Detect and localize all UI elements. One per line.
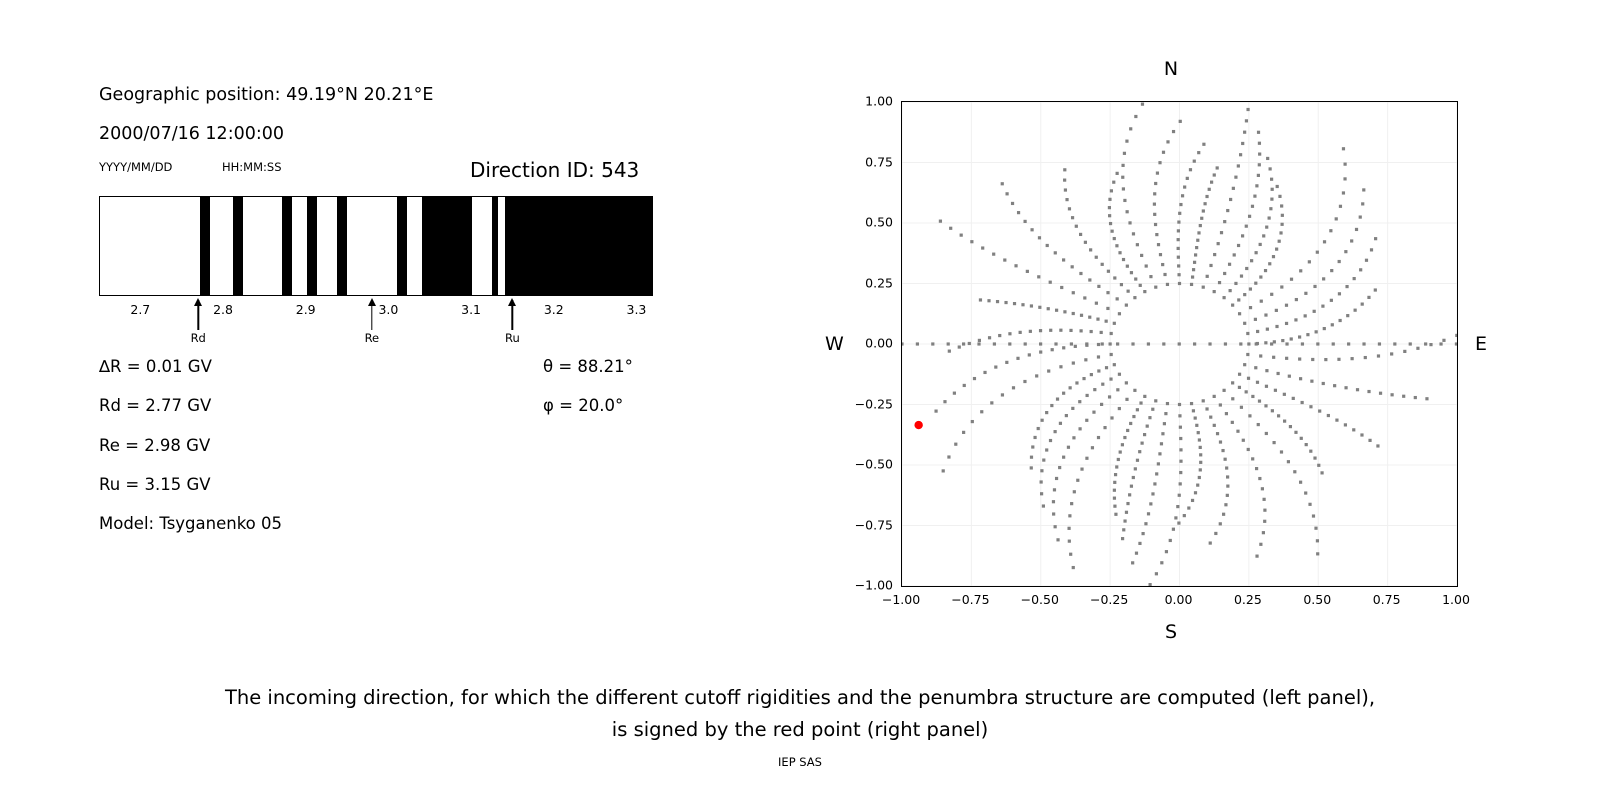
map-point <box>1362 342 1365 345</box>
map-x-tick-label: 0.50 <box>1303 592 1331 607</box>
map-point <box>1153 213 1156 216</box>
map-point <box>993 342 996 345</box>
map-point <box>1153 482 1156 485</box>
map-point <box>1121 164 1124 167</box>
map-point <box>1355 228 1358 231</box>
map-point <box>1113 497 1116 500</box>
map-point <box>1144 522 1147 525</box>
map-point <box>1224 342 1227 345</box>
direction-map-svg <box>902 102 1457 586</box>
map-point <box>1187 506 1190 509</box>
map-point <box>1149 502 1152 505</box>
map-point <box>1234 282 1237 285</box>
map-point <box>1139 401 1142 404</box>
map-point <box>1179 203 1182 206</box>
map-point <box>1262 234 1265 237</box>
map-point <box>1097 369 1100 372</box>
map-point <box>1095 256 1098 259</box>
map-point <box>1324 358 1327 361</box>
map-point <box>1079 329 1082 332</box>
compass-label-north: N <box>1164 58 1178 80</box>
map-point <box>1219 403 1222 406</box>
map-point <box>1245 119 1248 122</box>
map-point <box>1190 402 1193 405</box>
map-point <box>1255 555 1258 558</box>
map-point <box>1101 263 1104 266</box>
map-point <box>1116 342 1119 345</box>
map-point <box>1376 444 1379 447</box>
map-point <box>1178 212 1181 215</box>
map-point <box>1166 140 1169 143</box>
map-point <box>1259 543 1262 546</box>
map-point <box>971 420 974 423</box>
map-point <box>1197 431 1200 434</box>
map-point <box>1299 377 1302 380</box>
map-point <box>1154 399 1157 402</box>
map-point <box>1259 275 1262 278</box>
map-point <box>1179 448 1182 451</box>
map-point <box>1052 512 1055 515</box>
map-point <box>1042 458 1045 461</box>
map-point <box>1072 312 1075 315</box>
map-point <box>1126 210 1129 213</box>
map-point <box>1085 419 1088 422</box>
map-point <box>1368 439 1371 442</box>
map-point <box>1258 399 1261 402</box>
map-point <box>1258 142 1261 145</box>
map-point <box>1092 411 1095 414</box>
map-point <box>943 400 946 403</box>
map-point <box>1202 286 1205 289</box>
map-point <box>1222 296 1225 299</box>
map-point <box>1219 440 1222 443</box>
map-point <box>1031 445 1034 448</box>
map-point <box>1288 375 1291 378</box>
map-point <box>1179 482 1182 485</box>
map-point <box>1125 398 1128 401</box>
map-point <box>1141 532 1144 535</box>
map-point <box>1226 494 1229 497</box>
map-point <box>1126 265 1129 268</box>
map-y-tick-label: −0.75 <box>0 517 893 532</box>
map-point <box>1019 331 1022 334</box>
map-point <box>1105 320 1108 323</box>
map-point <box>1074 345 1077 348</box>
map-point <box>1311 358 1314 361</box>
map-point <box>1209 541 1212 544</box>
map-point <box>1339 319 1342 322</box>
map-point <box>1220 231 1223 234</box>
map-point <box>1416 347 1419 350</box>
map-point <box>1194 416 1197 419</box>
map-point <box>1378 342 1381 345</box>
map-point <box>1129 422 1132 425</box>
map-point <box>1316 342 1319 345</box>
map-point <box>1309 450 1312 453</box>
map-point <box>1231 397 1234 400</box>
map-point <box>1330 299 1333 302</box>
map-point <box>1143 290 1146 293</box>
map-point <box>1195 246 1198 249</box>
map-point <box>1243 363 1246 366</box>
map-y-tick-label: −0.50 <box>0 457 893 472</box>
map-y-tick-label: 1.00 <box>0 94 893 109</box>
map-point <box>1192 268 1195 271</box>
map-point <box>1290 337 1293 340</box>
map-point <box>1118 251 1121 254</box>
map-point <box>1127 290 1130 293</box>
map-point <box>1093 388 1096 391</box>
map-point <box>1005 192 1008 195</box>
map-point <box>1105 366 1108 369</box>
map-point <box>1221 449 1224 452</box>
map-point <box>1179 426 1182 429</box>
map-point <box>1233 253 1236 256</box>
map-point <box>1133 296 1136 299</box>
map-point <box>1258 477 1261 480</box>
map-point <box>1125 304 1128 307</box>
map-point <box>1005 361 1008 364</box>
map-point <box>1202 209 1205 212</box>
map-point <box>1049 439 1052 442</box>
map-point <box>1153 203 1156 206</box>
map-point <box>1041 419 1044 422</box>
map-point <box>1154 223 1157 226</box>
map-point <box>1122 187 1125 190</box>
map-point <box>1268 262 1271 265</box>
map-point <box>1107 270 1110 273</box>
map-point <box>1299 269 1302 272</box>
map-point <box>1063 168 1066 171</box>
map-point <box>1245 225 1248 228</box>
map-point <box>1268 216 1271 219</box>
map-point <box>1359 268 1362 271</box>
map-point <box>1424 342 1427 345</box>
map-point <box>1393 342 1396 345</box>
map-point <box>1213 424 1216 427</box>
map-point <box>1390 352 1393 355</box>
map-point <box>1054 251 1057 254</box>
map-point <box>1255 251 1258 254</box>
map-point <box>1039 329 1042 332</box>
map-point <box>1255 467 1258 470</box>
map-point <box>1068 540 1071 543</box>
map-point <box>1072 566 1075 569</box>
map-point <box>1178 342 1181 345</box>
map-point <box>1354 309 1357 312</box>
map-point <box>978 339 981 342</box>
map-point <box>1121 537 1124 540</box>
map-point <box>1323 327 1326 330</box>
map-point <box>1256 330 1259 333</box>
map-point <box>1062 346 1065 349</box>
map-point <box>1108 198 1111 201</box>
map-point <box>1158 452 1161 455</box>
map-point <box>1313 285 1316 288</box>
map-point <box>1213 290 1216 293</box>
map-point <box>1455 342 1457 345</box>
map-point <box>1322 382 1325 385</box>
map-point <box>1402 395 1405 398</box>
map-point <box>1247 448 1250 451</box>
map-point <box>1011 202 1014 205</box>
map-point <box>1308 503 1311 506</box>
map-point <box>1199 224 1202 227</box>
map-point <box>1344 423 1347 426</box>
map-point <box>1217 242 1220 245</box>
map-point <box>1312 514 1315 517</box>
map-point <box>1045 411 1048 414</box>
map-point <box>1353 277 1356 280</box>
map-x-tick-label: −0.75 <box>951 592 989 607</box>
map-point <box>1110 416 1113 419</box>
map-point <box>1106 291 1109 294</box>
map-point <box>1070 502 1073 505</box>
map-point <box>1163 273 1166 276</box>
map-point <box>1058 466 1061 469</box>
map-point <box>949 227 952 230</box>
map-point <box>1277 372 1280 375</box>
map-point <box>992 253 995 256</box>
map-point <box>1367 296 1370 299</box>
map-point <box>1216 432 1219 435</box>
map-point <box>1265 369 1268 372</box>
map-point <box>1177 247 1180 250</box>
map-point <box>1062 258 1065 261</box>
map-y-tick-label: −1.00 <box>0 578 893 593</box>
map-point <box>1117 458 1120 461</box>
map-point <box>1275 248 1278 251</box>
map-point <box>1257 423 1260 426</box>
map-point <box>1049 281 1052 284</box>
caption-line-1: The incoming direction, for which the di… <box>0 682 1600 714</box>
map-point <box>1314 527 1317 530</box>
map-point <box>1108 395 1111 398</box>
map-point <box>1128 493 1131 496</box>
map-point <box>1177 264 1180 267</box>
map-point <box>1439 342 1442 345</box>
map-point <box>1016 357 1019 360</box>
map-point <box>1054 342 1057 345</box>
map-point <box>1046 244 1049 247</box>
map-point <box>1125 140 1128 143</box>
map-point <box>1035 374 1038 377</box>
map-point <box>980 410 983 413</box>
map-point <box>1343 177 1346 180</box>
map-point <box>1113 237 1116 240</box>
map-point <box>1108 214 1111 217</box>
direction-map-chart <box>901 101 1458 587</box>
map-point <box>1237 164 1240 167</box>
map-point <box>1362 188 1365 191</box>
map-point <box>1263 520 1266 523</box>
map-point <box>1050 404 1053 407</box>
map-point <box>1162 151 1165 154</box>
map-point <box>1263 498 1266 501</box>
map-point <box>1285 342 1288 345</box>
map-point <box>1327 414 1330 417</box>
map-point <box>1114 473 1117 476</box>
map-point <box>1069 329 1072 332</box>
map-point <box>1236 430 1239 433</box>
map-point <box>1365 259 1368 262</box>
map-point <box>1261 487 1264 490</box>
map-point <box>1283 393 1286 396</box>
map-point <box>1222 389 1225 392</box>
map-point <box>1239 153 1242 156</box>
map-point <box>1301 342 1304 345</box>
map-point <box>1090 373 1093 376</box>
map-point <box>1425 397 1428 400</box>
map-point <box>983 371 986 374</box>
map-point <box>1237 244 1240 247</box>
map-point <box>1238 386 1241 389</box>
map-point <box>1321 305 1324 308</box>
map-point <box>1294 318 1297 321</box>
map-point <box>1047 307 1050 310</box>
map-point <box>1143 395 1146 398</box>
map-point <box>1097 355 1100 358</box>
map-point <box>947 455 950 458</box>
map-point <box>960 234 963 237</box>
map-point <box>1300 437 1303 440</box>
map-point <box>1223 220 1226 223</box>
map-point <box>934 410 937 413</box>
highlighted-direction-point <box>914 421 922 429</box>
map-point <box>1070 342 1073 345</box>
map-point <box>1151 492 1154 495</box>
map-point <box>1154 182 1157 185</box>
map-point <box>1147 342 1150 345</box>
map-point <box>988 336 991 339</box>
map-point <box>1280 450 1283 453</box>
map-point <box>1391 393 1394 396</box>
map-point <box>1177 273 1180 276</box>
map-point <box>1205 195 1208 198</box>
map-point <box>1157 243 1160 246</box>
map-point <box>1270 198 1273 201</box>
map-point <box>1054 525 1057 528</box>
map-point <box>1013 302 1016 305</box>
map-point <box>1241 142 1244 145</box>
map-point <box>1017 211 1020 214</box>
map-point <box>970 240 973 243</box>
map-point <box>1266 328 1269 331</box>
map-point <box>1123 436 1126 439</box>
map-point <box>1194 253 1197 256</box>
map-point <box>1197 231 1200 234</box>
map-point <box>1264 313 1267 316</box>
map-point <box>1113 276 1116 279</box>
map-point <box>1161 432 1164 435</box>
map-x-tick-label: 0.75 <box>1373 592 1401 607</box>
map-point <box>1249 287 1252 290</box>
map-point <box>1178 494 1181 497</box>
map-point <box>1118 373 1121 376</box>
map-point <box>1108 206 1111 209</box>
map-point <box>1200 217 1203 220</box>
map-point <box>1140 254 1143 257</box>
map-point <box>1115 244 1118 247</box>
map-point <box>1347 342 1350 345</box>
map-point <box>1313 456 1316 459</box>
map-point <box>1249 306 1252 309</box>
map-point <box>1271 409 1274 412</box>
map-point <box>1088 316 1091 319</box>
map-point <box>1118 407 1121 410</box>
map-point <box>1177 256 1180 259</box>
map-point <box>1051 348 1054 351</box>
map-point <box>1216 166 1219 169</box>
map-point <box>1028 353 1031 356</box>
map-point <box>1113 363 1116 366</box>
map-point <box>1076 479 1079 482</box>
map-point <box>1285 357 1288 360</box>
map-point <box>1071 265 1074 268</box>
map-point <box>998 334 1001 337</box>
map-point <box>1442 339 1445 342</box>
map-point <box>1181 194 1184 197</box>
map-point <box>1065 414 1068 417</box>
map-point <box>1069 386 1072 389</box>
map-point <box>1205 407 1208 410</box>
map-point <box>1023 380 1026 383</box>
map-point <box>1250 259 1253 262</box>
map-point <box>1301 401 1304 404</box>
map-point <box>1172 130 1175 133</box>
map-point <box>1224 458 1227 461</box>
map-point <box>1240 274 1243 277</box>
map-point <box>1289 425 1292 428</box>
map-point <box>1037 427 1040 430</box>
map-point <box>1138 450 1141 453</box>
map-point <box>1101 383 1104 386</box>
map-point <box>1203 202 1206 205</box>
map-point <box>1232 187 1235 190</box>
map-point <box>1218 281 1221 284</box>
map-point <box>1072 436 1075 439</box>
map-point <box>1156 172 1159 175</box>
map-point <box>1258 152 1261 155</box>
map-point <box>1356 388 1359 391</box>
map-point <box>1274 389 1277 392</box>
map-point <box>1199 461 1202 464</box>
map-point <box>1309 405 1312 408</box>
map-point <box>1097 285 1100 288</box>
map-point <box>1229 289 1232 292</box>
map-point <box>1096 318 1099 321</box>
map-y-tick-label: 0.75 <box>0 154 893 169</box>
map-point <box>1238 312 1241 315</box>
map-point <box>1202 399 1205 402</box>
map-point <box>1030 228 1033 231</box>
map-point <box>1159 253 1162 256</box>
map-point <box>1283 420 1286 423</box>
map-point <box>1141 103 1144 106</box>
map-point <box>1072 291 1075 294</box>
map-point <box>1024 342 1027 345</box>
map-point <box>1193 261 1196 264</box>
map-point <box>1251 457 1254 460</box>
map-point <box>1316 552 1319 555</box>
map-point <box>1063 310 1066 313</box>
map-point <box>1003 258 1006 261</box>
map-point <box>987 299 990 302</box>
map-x-tick-label: 0.25 <box>1234 592 1262 607</box>
map-point <box>1278 240 1281 243</box>
map-point <box>1067 446 1070 449</box>
map-point <box>1243 322 1246 325</box>
